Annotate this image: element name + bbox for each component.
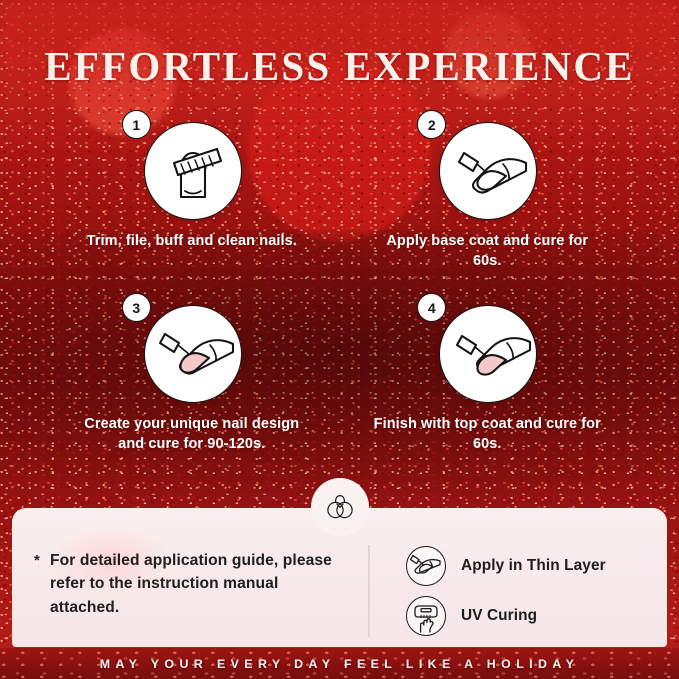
promo-infographic: EFFORTLESS EXPERIENCE 1 [0, 0, 679, 679]
note-text: For detailed application guide, please r… [50, 549, 350, 619]
thin-layer-brush-icon [406, 546, 446, 586]
top-coat-brush-icon [439, 305, 537, 403]
feature-label-thin-layer: Apply in Thin Layer [461, 557, 606, 575]
nail-file-icon [144, 122, 242, 220]
step-item-1: 1 Trim, file, buff and clean nails. [44, 122, 340, 271]
step-4-caption: Finish with top coat and cure for 60s. [372, 415, 602, 454]
steps-row-1: 1 Trim, file, buff and clean nails. [44, 122, 635, 271]
step-item-4: 4 Finish with top co [340, 305, 636, 454]
step-1-circle-wrap: 1 [144, 122, 240, 218]
panel-divider [368, 545, 370, 637]
step-3-circle-wrap: 3 [144, 305, 240, 401]
feature-list: Apply in Thin Layer UV Curing [406, 542, 606, 640]
polish-design-brush-icon [144, 305, 242, 403]
step-3-number-badge: 3 [122, 293, 151, 322]
feature-item-thin-layer: Apply in Thin Layer [406, 542, 606, 590]
instruction-note: * For detailed application guide, please… [50, 549, 350, 619]
step-3-caption: Create your unique nail design and cure … [77, 415, 307, 454]
banner-tagline: MAY YOUR EVERY DAY FEEL LIKE A HOLIDAY [100, 657, 579, 671]
brand-monogram-icon [311, 478, 369, 536]
step-2-number-badge: 2 [417, 110, 446, 139]
step-2-circle-wrap: 2 [439, 122, 535, 218]
step-1-number-badge: 1 [122, 110, 151, 139]
step-item-2: 2 Apply base coat an [340, 122, 636, 271]
feature-item-uv-curing: UV Curing [406, 592, 606, 640]
feature-label-uv-curing: UV Curing [461, 607, 537, 625]
step-4-number-badge: 4 [417, 293, 446, 322]
note-asterisk: * [34, 550, 40, 573]
step-2-caption: Apply base coat and cure for 60s. [372, 232, 602, 271]
page-title: EFFORTLESS EXPERIENCE [0, 42, 679, 90]
uv-lamp-icon [406, 596, 446, 636]
step-item-3: 3 Create your unique [44, 305, 340, 454]
steps-row-2: 3 Create your unique [44, 305, 635, 454]
base-coat-brush-icon [439, 122, 537, 220]
step-1-caption: Trim, file, buff and clean nails. [87, 232, 297, 252]
steps-grid: 1 Trim, file, buff and clean nails. [44, 122, 635, 454]
step-4-circle-wrap: 4 [439, 305, 535, 401]
bottom-banner: MAY YOUR EVERY DAY FEEL LIKE A HOLIDAY [0, 648, 679, 679]
